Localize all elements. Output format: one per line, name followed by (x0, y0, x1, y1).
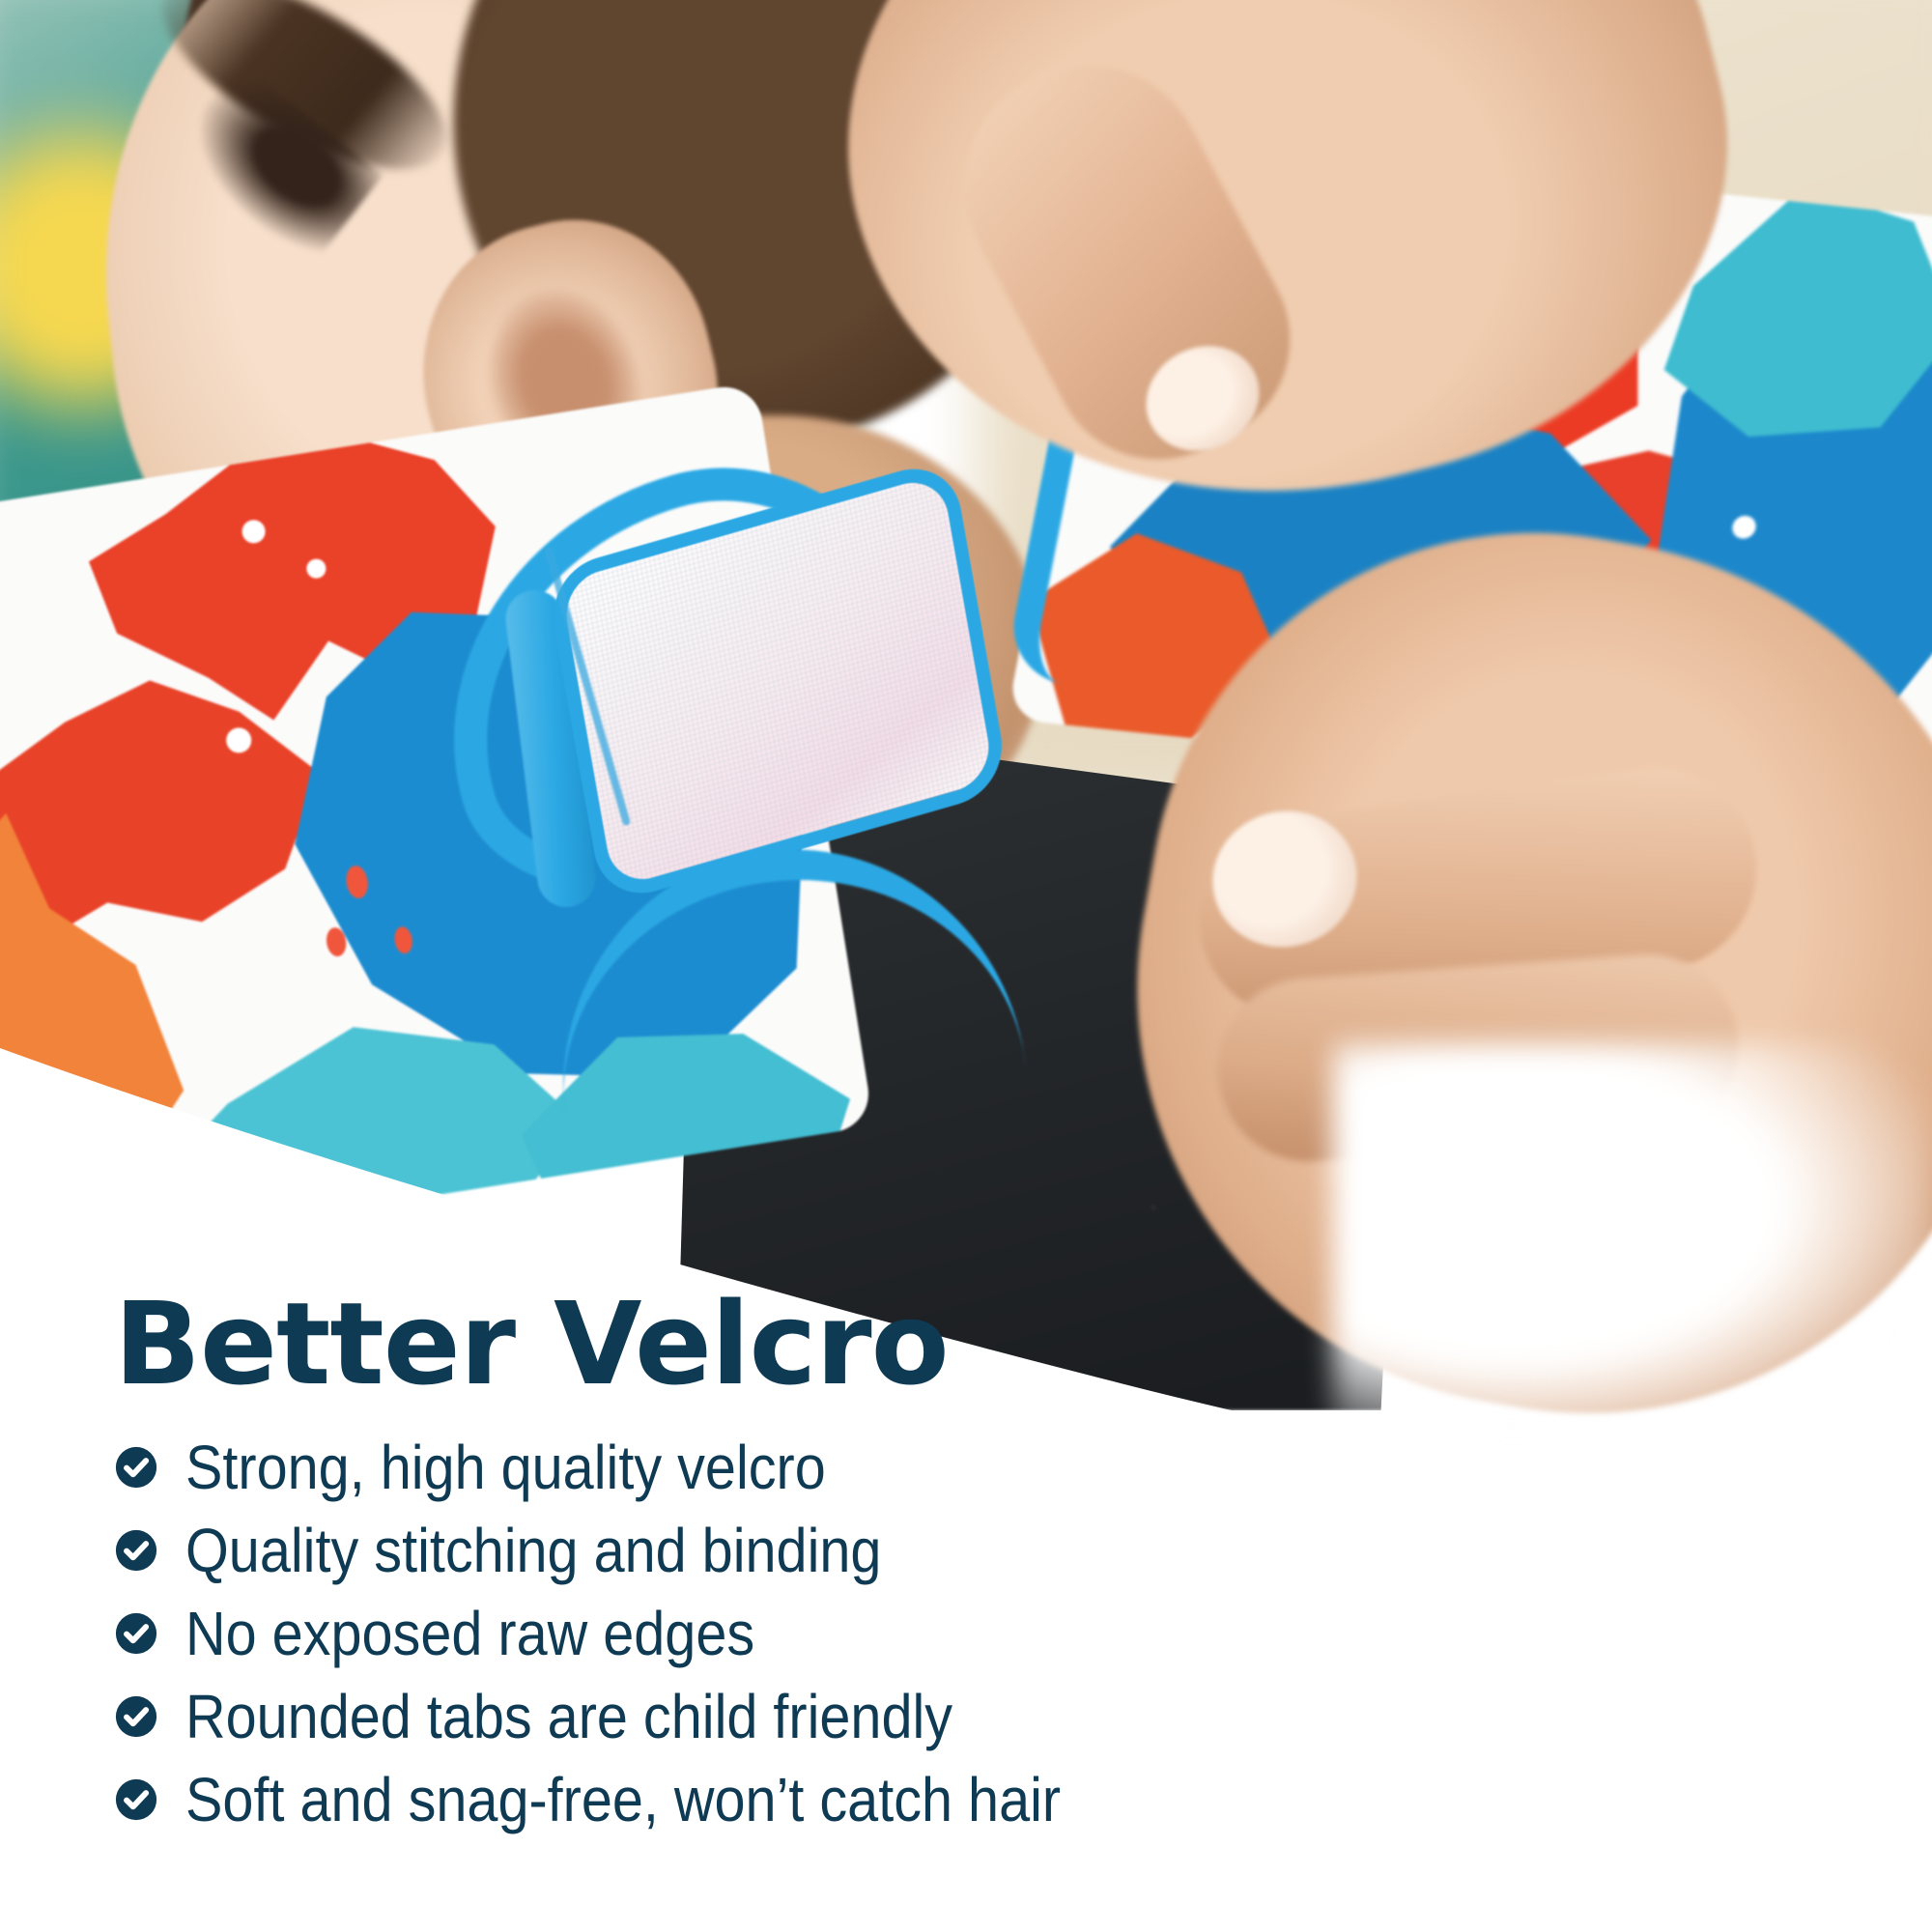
list-item: Strong, high quality velcro (114, 1434, 1756, 1501)
check-circle-icon (114, 1694, 158, 1739)
list-item: No exposed raw edges (114, 1600, 1756, 1667)
check-circle-icon (114, 1445, 158, 1490)
feature-list: Strong, high quality velcro Quality stit… (114, 1434, 1756, 1833)
check-circle-icon (114, 1611, 158, 1656)
product-feature-graphic: Better Velcro Strong, high quality velcr… (0, 0, 1932, 1932)
list-item-label: Quality stitching and binding (185, 1520, 881, 1581)
feature-text-block: Better Velcro Strong, high quality velcr… (114, 1287, 1756, 1849)
list-item: Quality stitching and binding (114, 1517, 1756, 1584)
list-item-label: Soft and snag-free, won’t catch hair (185, 1769, 1061, 1831)
check-circle-icon (114, 1777, 158, 1822)
list-item-label: No exposed raw edges (185, 1603, 754, 1664)
check-circle-icon (114, 1528, 158, 1573)
list-item: Rounded tabs are child friendly (114, 1683, 1756, 1750)
list-item-label: Strong, high quality velcro (185, 1436, 826, 1498)
list-item-label: Rounded tabs are child friendly (185, 1686, 952, 1747)
list-item: Soft and snag-free, won’t catch hair (114, 1766, 1756, 1833)
page-title: Better Velcro (114, 1287, 1756, 1401)
